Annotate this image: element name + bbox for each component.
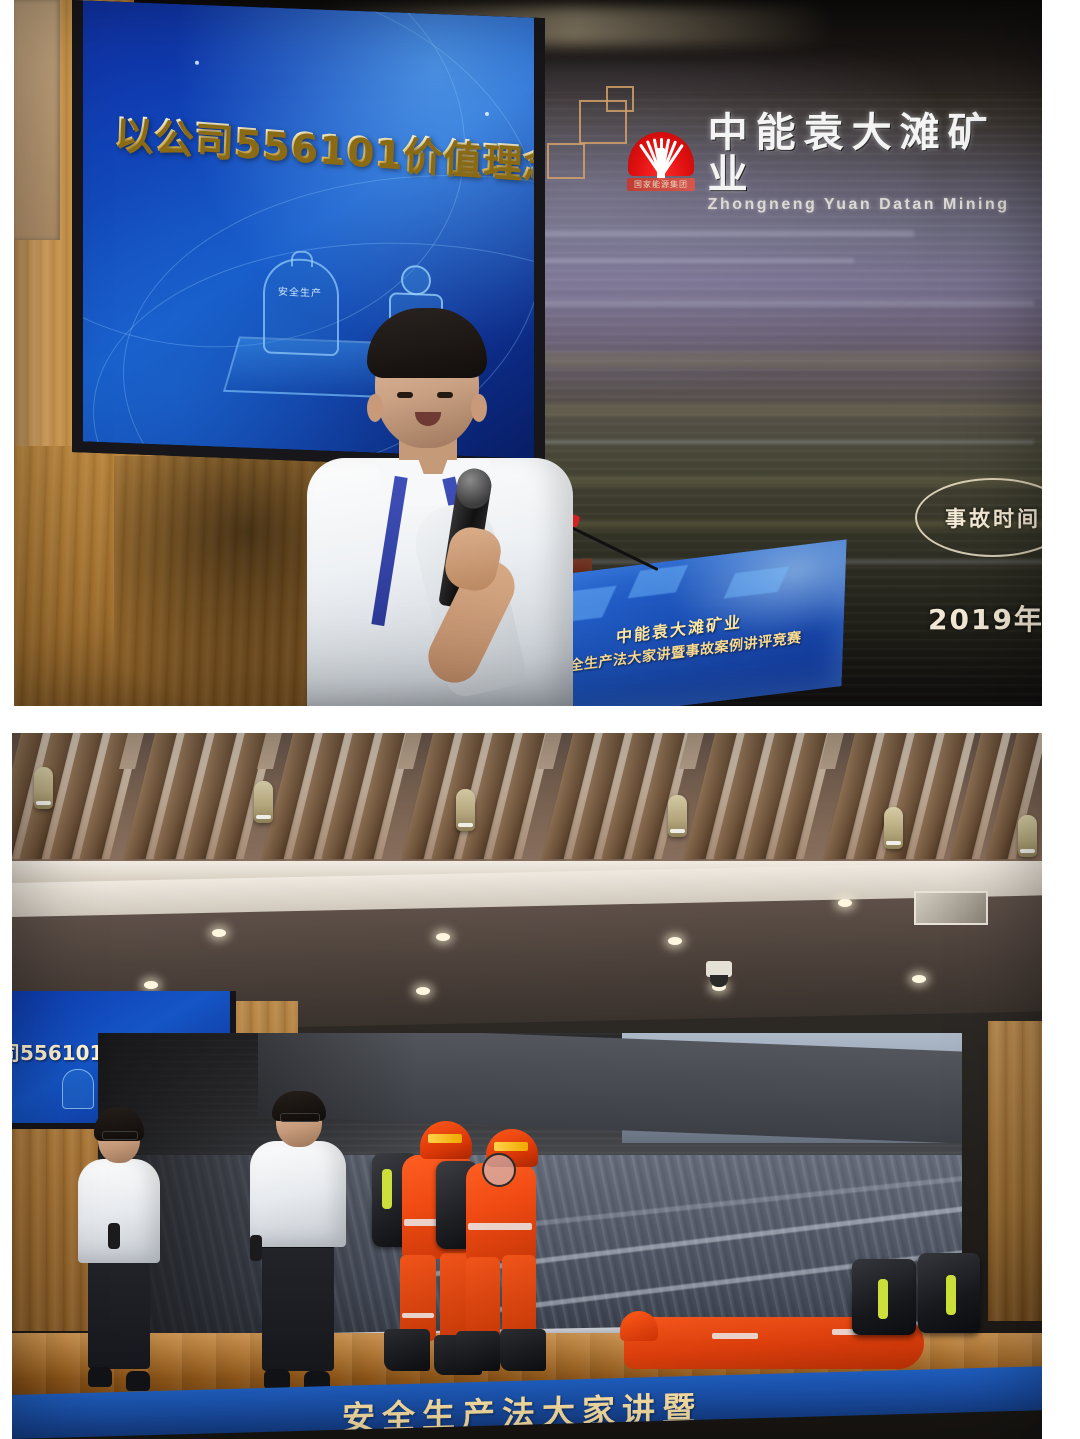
photo-speaker-at-podium: 国家能源集团 中能袁大滩矿业 Zhongneng Yuan Datan Mini… xyxy=(14,0,1042,706)
casualty-helmet xyxy=(620,1311,658,1341)
recessed-downlight xyxy=(144,981,158,989)
decor-square xyxy=(606,86,634,112)
company-name-cn: 中能袁大滩矿业 xyxy=(708,112,1042,196)
company-emblem-icon: 国家能源集团 xyxy=(628,132,694,194)
emblem-subtext: 国家能源集团 xyxy=(627,178,695,191)
company-name-en: Zhongneng Yuan Datan Mining xyxy=(708,196,1042,214)
decor-square xyxy=(547,143,585,179)
presenter-male xyxy=(238,1091,358,1405)
presenter-microphone xyxy=(250,1235,262,1261)
breathing-mask xyxy=(482,1153,516,1187)
slide-bell-label: 安全生产 xyxy=(269,286,331,301)
recessed-downlight xyxy=(416,987,430,995)
company-logo-lockup: 国家能源集团 中能袁大滩矿业 Zhongneng Yuan Datan Mini… xyxy=(628,112,1042,214)
equipment-strap xyxy=(878,1279,888,1319)
recessed-downlight xyxy=(912,975,926,983)
recessed-downlight xyxy=(668,937,682,945)
track-spotlight xyxy=(254,781,273,823)
track-spotlight xyxy=(668,795,687,837)
security-camera-icon xyxy=(706,961,732,977)
photo-stage-demonstration: 司556101价值理念为引领 xyxy=(12,733,1042,1439)
presenter-female xyxy=(64,1105,174,1405)
speaker-hair xyxy=(367,308,487,378)
track-spotlight xyxy=(456,789,475,831)
rubber-boot xyxy=(384,1329,430,1371)
rubber-boot xyxy=(456,1331,500,1371)
poster-page: 国家能源集团 中能袁大滩矿业 Zhongneng Yuan Datan Mini… xyxy=(0,0,1080,1439)
accident-time-label: 事故时间 xyxy=(945,503,1041,533)
track-spotlight xyxy=(1018,815,1037,857)
wood-wall-panel-right xyxy=(988,1021,1042,1321)
reflective-stripe xyxy=(712,1333,758,1339)
rubber-boot xyxy=(500,1329,546,1371)
equipment-strap xyxy=(946,1275,956,1315)
recessed-downlight xyxy=(838,899,852,907)
recessed-downlight xyxy=(436,933,450,941)
rescue-worker-b xyxy=(440,1127,560,1383)
track-spotlight xyxy=(34,767,53,809)
accident-date-text: 2019年2月15日 xyxy=(928,598,1042,638)
speaker-person xyxy=(299,300,584,706)
presenter-microphone xyxy=(108,1223,120,1249)
air-vent xyxy=(914,891,988,925)
track-spotlight xyxy=(884,807,903,849)
recessed-downlight xyxy=(212,929,226,937)
